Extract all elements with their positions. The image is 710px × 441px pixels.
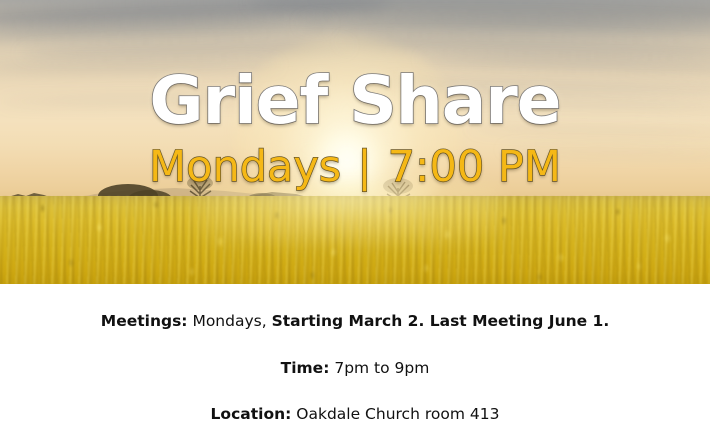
- meetings-value: Mondays,: [192, 312, 266, 330]
- time-value: 7pm to 9pm: [334, 359, 429, 377]
- hero-subtitle: Mondays|7:00 PM: [0, 146, 710, 189]
- hero-banner: Grief Share Mondays|7:00 PM: [0, 0, 710, 284]
- hero-text-group: Grief Share Mondays|7:00 PM: [0, 0, 710, 284]
- time-line: Time: 7pm to 9pm: [0, 359, 710, 378]
- meetings-dates: Starting March 2. Last Meeting June 1.: [272, 312, 610, 330]
- location-value: Oakdale Church room 413: [296, 405, 499, 423]
- grief-share-flyer: Grief Share Mondays|7:00 PM Meetings: Mo…: [0, 0, 710, 441]
- page-title: Grief Share: [0, 68, 710, 134]
- meetings-line: Meetings: Mondays, Starting March 2. Las…: [0, 312, 710, 331]
- location-line: Location: Oakdale Church room 413: [0, 405, 710, 424]
- time-label: Time:: [281, 359, 330, 377]
- event-details: Meetings: Mondays, Starting March 2. Las…: [0, 284, 710, 441]
- subtitle-time: 7:00 PM: [388, 142, 561, 192]
- subtitle-separator-icon: |: [341, 146, 388, 189]
- meetings-label: Meetings:: [101, 312, 188, 330]
- subtitle-day: Mondays: [149, 142, 341, 192]
- location-label: Location:: [211, 405, 292, 423]
